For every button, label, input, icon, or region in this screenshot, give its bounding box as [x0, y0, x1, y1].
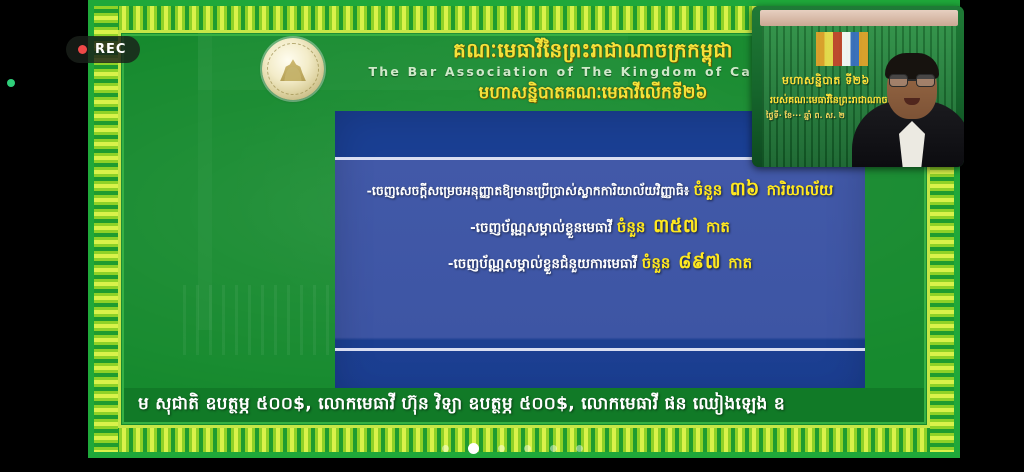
content-line-1: -ចេញសេចក្តីសម្រេចអនុញ្ញាតឱ្យមានប្រើប្រាស… — [367, 177, 834, 202]
glasses-left-lens — [889, 74, 908, 87]
ticker-text: ម សុជាតិ ឧបត្ថម្ភ ៥០០$, លោកមេធាវី ហ៊ុន វ… — [124, 393, 785, 418]
panel-divider-bottom — [335, 348, 865, 351]
recording-label: REC — [95, 42, 126, 57]
record-dot-icon — [78, 45, 87, 54]
screen-root: គណៈមេធាវីនៃព្រះរាជាណាចក្រកម្ពុជា The Bar… — [0, 0, 1024, 472]
content-line-3-text: -ចេញប័ណ្ណសម្គាល់ខ្លួនជំនួយការមេធាវី — [448, 256, 637, 272]
video-backdrop-rail — [760, 10, 958, 26]
content-line-3: -ចេញប័ណ្ណសម្គាល់ខ្លួនជំនួយការមេធាវី ចំនួ… — [448, 250, 752, 275]
left-gutter — [0, 0, 88, 472]
content-line-3-unit: កាត — [728, 254, 752, 272]
content-line-2-label: ចំនួន — [617, 218, 646, 236]
pagination-dot[interactable] — [498, 445, 505, 452]
pagination-dot[interactable] — [550, 445, 557, 452]
right-gutter — [960, 0, 1024, 472]
khmer-border-left — [94, 6, 118, 452]
pagination-dot[interactable] — [442, 445, 449, 452]
video-backdrop-line-3: ថ្ងៃទី· ខែ··· ឆ្នាំ ព. ស. ២ — [766, 110, 845, 122]
glasses-right-lens — [916, 74, 935, 87]
speaker-video-tile[interactable]: មហាសន្និបាត ទី២៦ របស់គណៈមេធាវីនៃព្រះរាជា… — [752, 6, 964, 167]
status-indicator-dot — [7, 79, 15, 87]
panel-body: -ចេញសេចក្តីសម្រេចអនុញ្ញាតឱ្យមានប្រើប្រាស… — [335, 160, 865, 348]
content-line-2-unit: កាត — [706, 218, 730, 236]
content-line-2-value: ៣៥៧ — [650, 215, 701, 237]
scrolling-ticker: ម សុជាតិ ឧបត្ថម្ភ ៥០០$, លោកមេធាវី ហ៊ុន វ… — [124, 388, 924, 422]
header-title-english: The Bar Association of The Kingdom of Ca… — [369, 64, 818, 79]
pagination-dots[interactable] — [0, 443, 1024, 454]
glasses-bridge — [908, 79, 916, 81]
pagination-dot[interactable] — [576, 445, 583, 452]
content-line-1-unit: ការិយាល័យ — [767, 181, 834, 199]
content-line-3-value: ៨៩៧ — [675, 251, 724, 273]
content-line-3-label: ចំនួន — [642, 254, 671, 272]
content-line-1-value: ៣៦ — [727, 178, 763, 200]
glasses-icon — [889, 74, 935, 87]
header-title-khmer: គណៈមេធាវីនៃព្រះរាជាណាចក្រកម្ពុជា — [453, 39, 733, 62]
recording-badge[interactable]: REC — [66, 36, 140, 63]
pagination-dot[interactable] — [524, 445, 531, 452]
bottom-strip — [0, 458, 1024, 472]
header-subtitle-khmer: មហាសន្និបាតគណៈមេធាវីលើកទី២៦ — [479, 82, 708, 107]
content-line-2-text: -ចេញប័ណ្ណសម្គាល់ខ្លួនមេធាវី — [470, 220, 612, 236]
content-line-1-label: ចំនួន — [694, 181, 723, 199]
content-line-2: -ចេញប័ណ្ណសម្គាល់ខ្លួនមេធាវី ចំនួន ៣៥៧ កា… — [470, 214, 730, 239]
pagination-dot-active[interactable] — [468, 443, 479, 454]
speaker-avatar — [852, 57, 964, 167]
content-line-1-text: -ចេញសេចក្តីសម្រេចអនុញ្ញាតឱ្យមានប្រើប្រាស… — [367, 183, 690, 198]
